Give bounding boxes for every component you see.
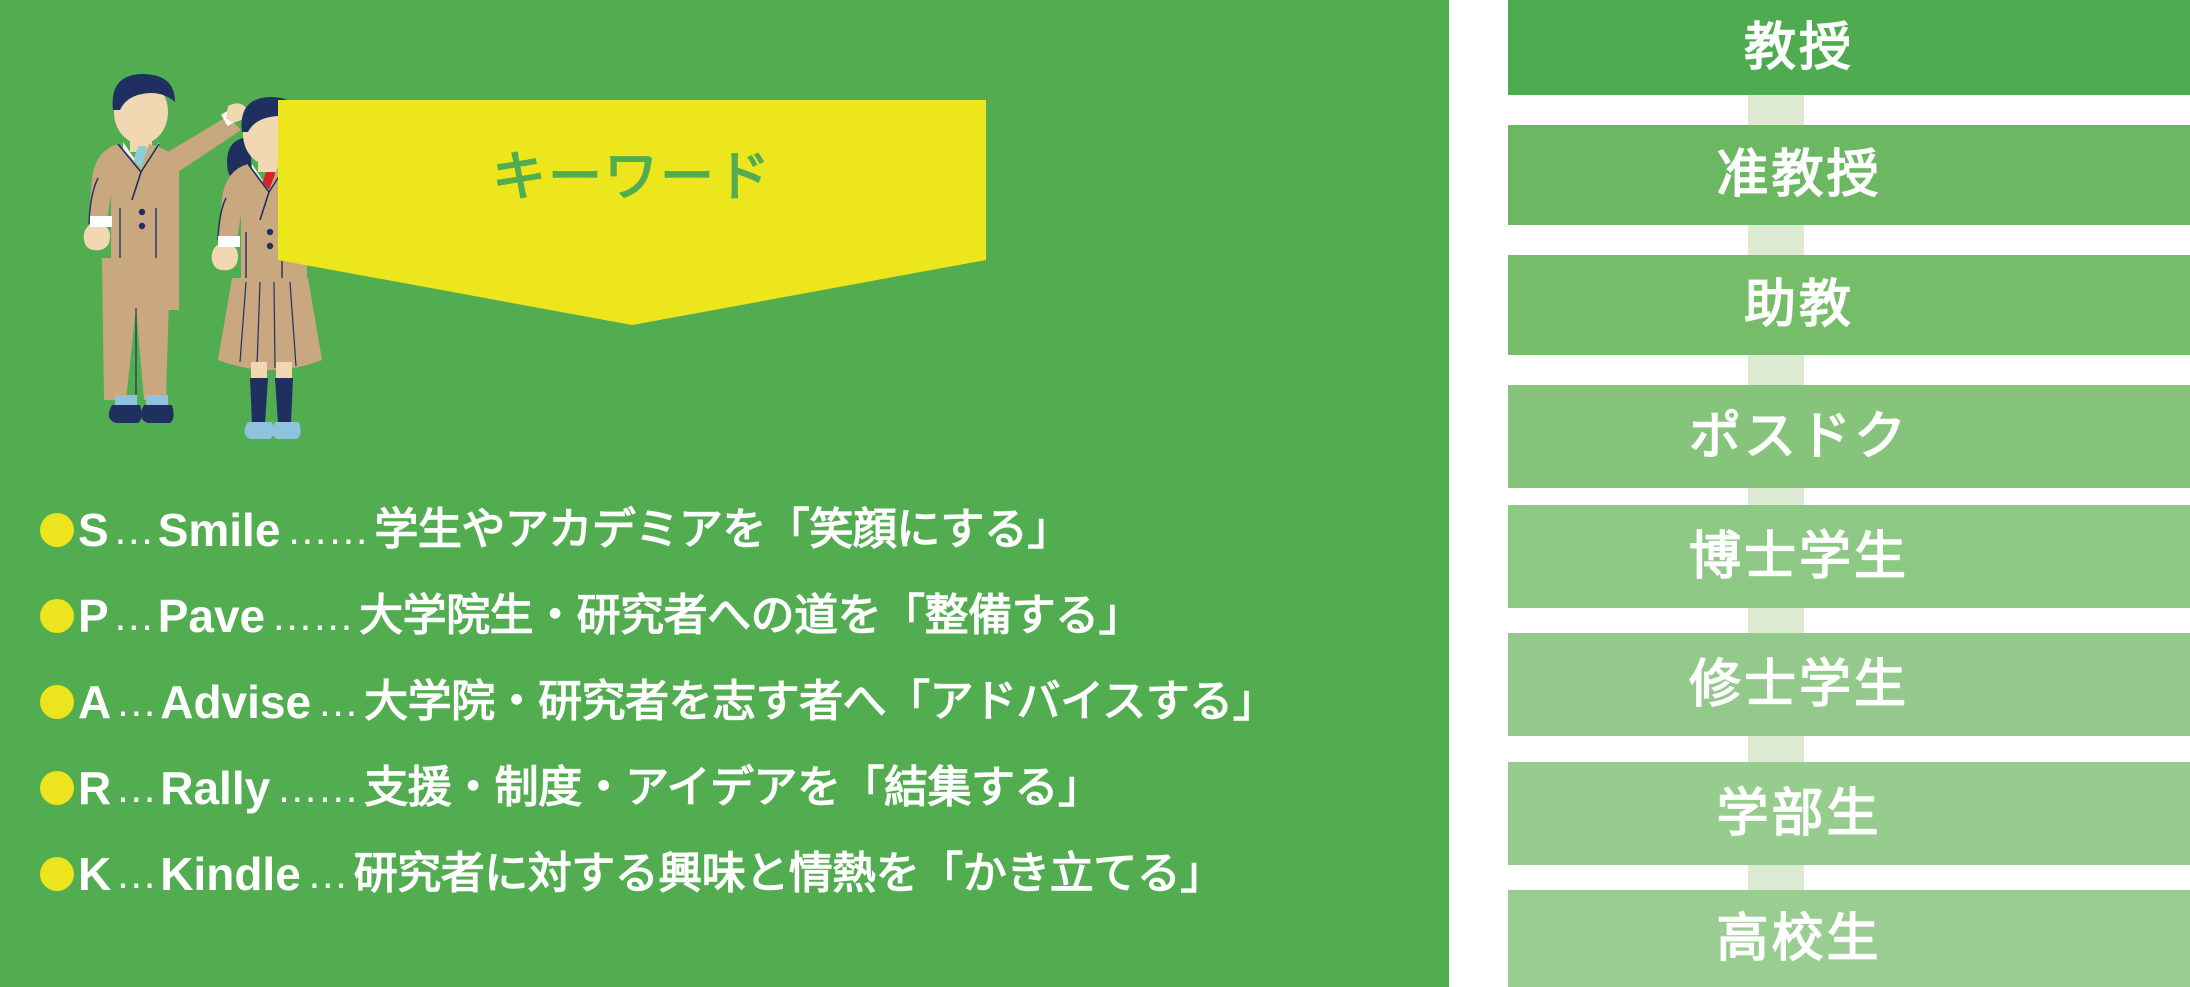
bullet-icon [40, 685, 74, 719]
ladder-rung-2: 助教 [1508, 255, 2190, 355]
acronym-lead-dots: … [113, 509, 154, 551]
acronym-word: Kindle [160, 851, 301, 897]
acronym-lead-dots: … [115, 853, 156, 895]
acronym-description: 大学院・研究者を志す者へ「アドバイスする」 [364, 680, 1276, 724]
ladder-rung-label: 高校生 [1716, 913, 1881, 965]
acronym-word: Smile [158, 507, 281, 553]
ladder-rung-1: 准教授 [1508, 125, 2190, 225]
list-item: S … Smile …… 学生やアカデミアを「笑顔にする」 [40, 487, 1430, 573]
ladder-rung-3: ポスドク [1508, 385, 2190, 488]
ladder-rung-label: ポスドク [1689, 411, 1909, 463]
list-item: P … Pave …… 大学院生・研究者への道を「整備する」 [40, 573, 1430, 659]
acronym-dots: …… [271, 595, 353, 637]
list-item: R … Rally …… 支援・制度・アイデアを「結集する」 [40, 745, 1430, 831]
acronym-description: 大学院生・研究者への道を「整備する」 [359, 594, 1142, 638]
keyword-banner-label: キーワード [278, 150, 986, 204]
acronym-dots: … [307, 853, 348, 895]
bullet-icon [40, 771, 74, 805]
ladder-rung-5: 修士学生 [1508, 633, 2190, 736]
acronym-dots: …… [276, 767, 358, 809]
ladder-rung-0: 教授 [1508, 0, 2190, 95]
banner-pentagon-shape [278, 100, 986, 325]
ladder-rung-label: 教授 [1744, 22, 1854, 74]
poster-root: キーワード S … Smile …… 学生やアカデミアを「笑顔にする」 P … … [0, 0, 2190, 987]
spark-acronym-list: S … Smile …… 学生やアカデミアを「笑顔にする」 P … Pave …… [40, 487, 1430, 917]
ladder-rung-label: 修士学生 [1689, 659, 1909, 711]
ladder-rung-4: 博士学生 [1508, 505, 2190, 608]
acronym-description: 研究者に対する興味と情熱を「かき立てる」 [354, 852, 1224, 896]
ladder-rung-6: 学部生 [1508, 762, 2190, 865]
acronym-letter: S [78, 507, 109, 553]
ladder-rung-label: 准教授 [1716, 149, 1881, 201]
acronym-letter: K [78, 851, 111, 897]
acronym-word: Rally [160, 765, 270, 811]
ladder-rung-label: 学部生 [1716, 788, 1881, 840]
acronym-word: Pave [158, 593, 265, 639]
ladder-rung-7: 高校生 [1508, 890, 2190, 987]
left-green-panel: キーワード S … Smile …… 学生やアカデミアを「笑顔にする」 P … … [0, 0, 1449, 987]
acronym-letter: P [78, 593, 109, 639]
acronym-lead-dots: … [115, 767, 156, 809]
list-item: A … Advise … 大学院・研究者を志す者へ「アドバイスする」 [40, 659, 1430, 745]
acronym-word: Advise [160, 679, 311, 725]
acronym-lead-dots: … [113, 595, 154, 637]
list-item: K … Kindle … 研究者に対する興味と情熱を「かき立てる」 [40, 831, 1430, 917]
acronym-dots: …… [286, 509, 368, 551]
career-ladder: 教授 准教授 助教 ポスドク 博士学生 修士学生 学部生 高校生 [1508, 0, 2190, 987]
acronym-description: 学生やアカデミアを「笑顔にする」 [374, 508, 1070, 552]
ladder-rung-label: 助教 [1744, 279, 1854, 331]
bullet-icon [40, 857, 74, 891]
ladder-rung-label: 博士学生 [1689, 531, 1909, 583]
acronym-letter: R [78, 765, 111, 811]
acronym-lead-dots: … [115, 681, 156, 723]
acronym-letter: A [78, 679, 111, 725]
acronym-dots: … [317, 681, 358, 723]
acronym-description: 支援・制度・アイデアを「結集する」 [364, 766, 1101, 810]
bullet-icon [40, 513, 74, 547]
bullet-icon [40, 599, 74, 633]
keyword-banner: キーワード [278, 100, 986, 325]
